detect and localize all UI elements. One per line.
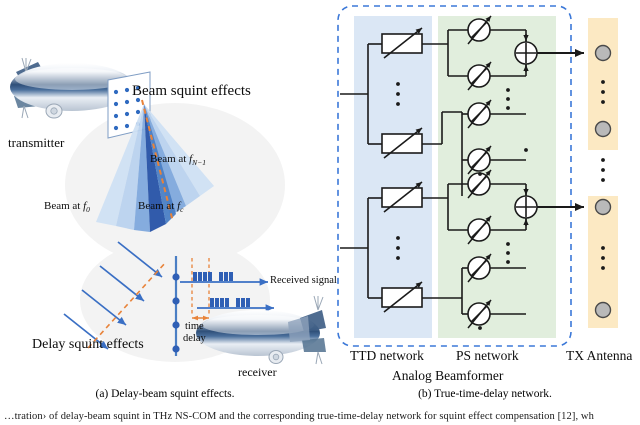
ps-network-label: PS network	[456, 348, 519, 364]
adder-icon-2	[515, 196, 537, 218]
panel-a-graphics	[0, 0, 330, 395]
beam-label-f0-prefix: Beam at	[44, 200, 83, 212]
figure-bottom-caption: …tration› of delay-beam squint in THz NS…	[0, 409, 640, 425]
ps-network-region	[438, 16, 556, 338]
figure-caption-b: (b) True-time-delay network.	[330, 388, 640, 400]
beam-label-fc-prefix: Beam at	[138, 200, 177, 212]
beam-label-f0: Beam at f0	[44, 200, 90, 214]
panel-delay-beam-squint: Beam squint effects transmitter Beam at …	[0, 0, 330, 395]
time-label: time	[185, 321, 204, 332]
panel-true-time-delay-network: TTD network PS network TX Antenna Analog…	[330, 0, 640, 395]
figure-caption-a: (a) Delay-beam squint effects.	[0, 388, 330, 400]
beam-label-fN1-prefix: Beam at	[150, 153, 189, 165]
beam-label-fN1-sub: N−1	[192, 158, 206, 167]
tx-antenna-label: TX Antenna	[566, 348, 632, 364]
beam-label-fc: Beam at fc	[138, 200, 184, 214]
beam-label-fN1: Beam at fN−1	[150, 153, 206, 167]
beam-label-f0-sub: 0	[86, 205, 90, 214]
receiver-label: receiver	[238, 365, 277, 380]
ttd-network-label: TTD network	[350, 348, 424, 364]
analog-beamformer-label: Analog Beamformer	[392, 368, 503, 384]
beam-label-fc-sub: c	[180, 205, 183, 214]
beam-squint-title: Beam squint effects	[132, 83, 251, 100]
panel-b-graphics	[330, 0, 640, 395]
delay-label: delay	[183, 333, 206, 344]
adder-icon-1	[515, 42, 537, 64]
transmitter-label: transmitter	[8, 135, 64, 151]
received-signal-label: Received signal	[270, 275, 337, 286]
delay-squint-title: Delay squint effects	[32, 337, 144, 353]
